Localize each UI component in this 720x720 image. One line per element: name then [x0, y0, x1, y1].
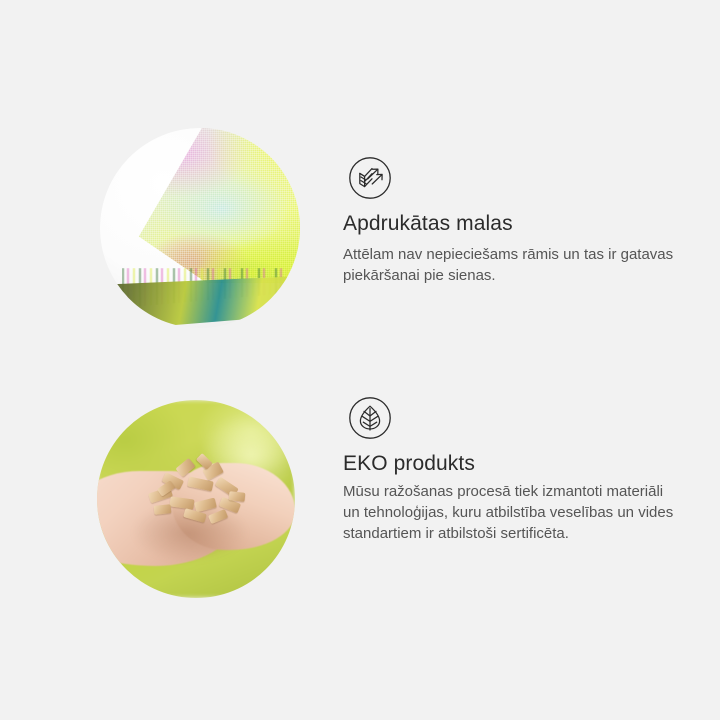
- feature-heading: Apdrukātas malas: [343, 212, 513, 236]
- canvas-wrapped-edge-icon: [348, 156, 392, 200]
- hands-wood-chips-photo: [97, 400, 295, 598]
- photo-content: [97, 400, 295, 598]
- leaf-icon: [348, 396, 392, 440]
- feature-heading: EKO produkts: [343, 452, 475, 476]
- product-features-panel: Apdrukātas malas Attēlam nav nepieciešam…: [0, 0, 720, 720]
- canvas-wrapped-side: [100, 276, 300, 328]
- feature-description: Attēlam nav nepieciešams rāmis un tas ir…: [343, 244, 679, 286]
- canvas-corner-photo: [100, 128, 300, 328]
- wood-chips: [145, 455, 260, 534]
- feature-description: Mūsu ražošanas procesā tiek izmantoti ma…: [343, 481, 679, 544]
